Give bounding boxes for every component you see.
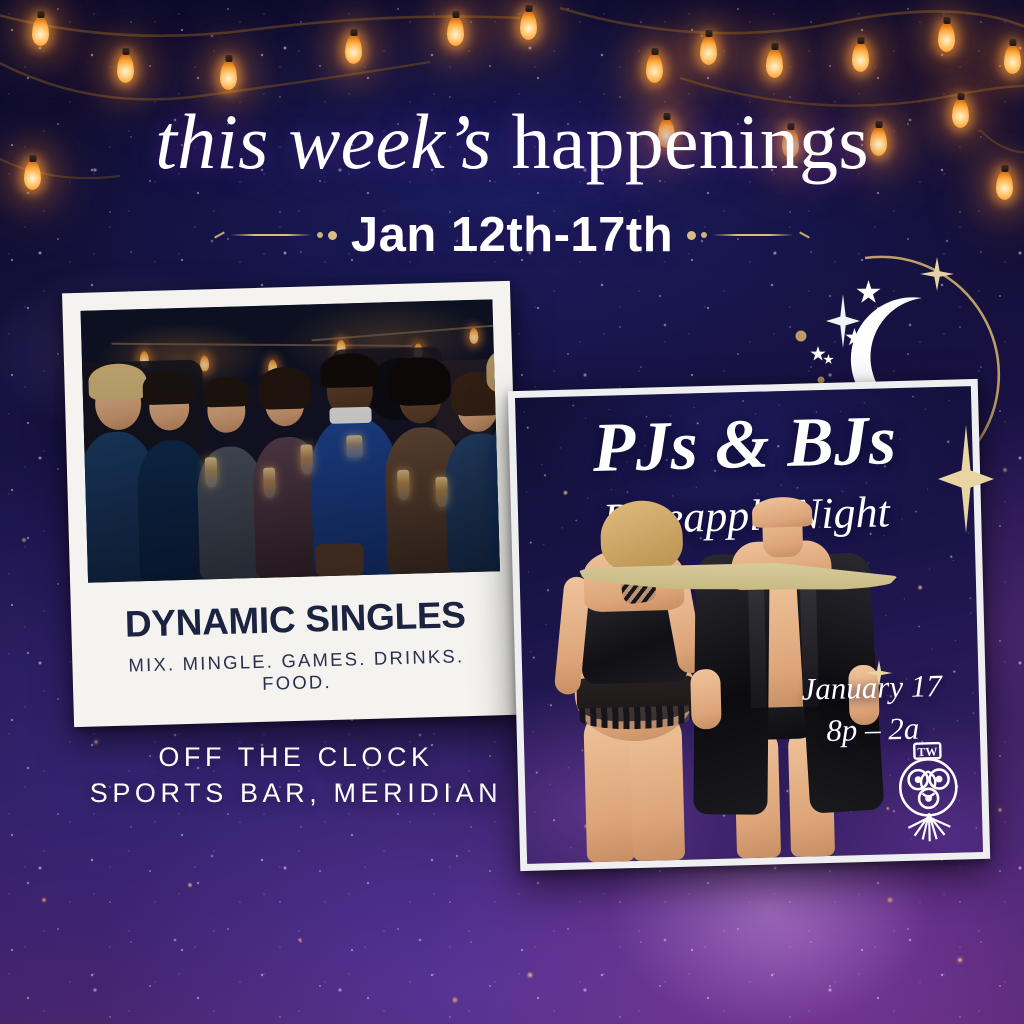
event-card-dynamic-singles[interactable]: DYNAMIC SINGLES MIX. MINGLE. GAMES. DRIN…	[62, 281, 522, 727]
event-tagline-dynamic-singles: MIX. MINGLE. GAMES. DRINKS. FOOD.	[90, 644, 503, 699]
venue-line-2: SPORTS BAR, MERIDIAN	[66, 776, 526, 812]
light-bulb	[117, 53, 134, 83]
light-bulb	[646, 53, 663, 83]
light-bulb	[938, 22, 955, 52]
logo-svg: TW	[890, 740, 967, 842]
light-bulb	[700, 35, 717, 65]
poster-canvas: this week’s happenings Jan 12th-17th	[0, 0, 1024, 1024]
light-bulb	[766, 48, 783, 78]
gold-sparkle-icon	[826, 294, 860, 348]
light-bulb	[32, 16, 49, 46]
white-star-icon	[823, 354, 834, 365]
venue-line-1: OFF THE CLOCK	[66, 740, 526, 776]
light-bulb	[1004, 44, 1021, 74]
event-card-inner: PJs & BJs Pineapple Night	[515, 386, 983, 864]
light-bulb	[520, 10, 537, 40]
light-bulb	[447, 16, 464, 46]
light-bulb	[220, 60, 237, 90]
title-italic-part: this week’s	[155, 98, 492, 185]
event-photo-dynamic-singles	[81, 299, 500, 582]
logo-monogram: TW	[917, 745, 937, 760]
venue-block: OFF THE CLOCK SPORTS BAR, MERIDIAN	[66, 740, 526, 812]
gold-sparkle-icon	[920, 257, 954, 291]
light-bulb	[852, 42, 869, 72]
gold-sparkle-icon	[866, 660, 892, 686]
title-roman-part: happenings	[492, 98, 869, 185]
event-title-dynamic-singles: DYNAMIC SINGLES	[89, 593, 502, 646]
light-bulb	[345, 34, 362, 64]
pineapple-triskelion-logo[interactable]: TW	[890, 740, 967, 842]
page-title: this week’s happenings	[0, 103, 1024, 181]
event-title-pjs-and-bjs: PJs & BJs	[515, 404, 973, 486]
gold-divider-left-icon	[214, 231, 337, 240]
gold-divider-right-icon	[687, 231, 810, 240]
date-range-label: Jan 12th-17th	[351, 207, 673, 263]
event-card-pjs-and-bjs[interactable]: PJs & BJs Pineapple Night	[508, 379, 990, 871]
gold-sparkle-icon	[938, 425, 994, 533]
